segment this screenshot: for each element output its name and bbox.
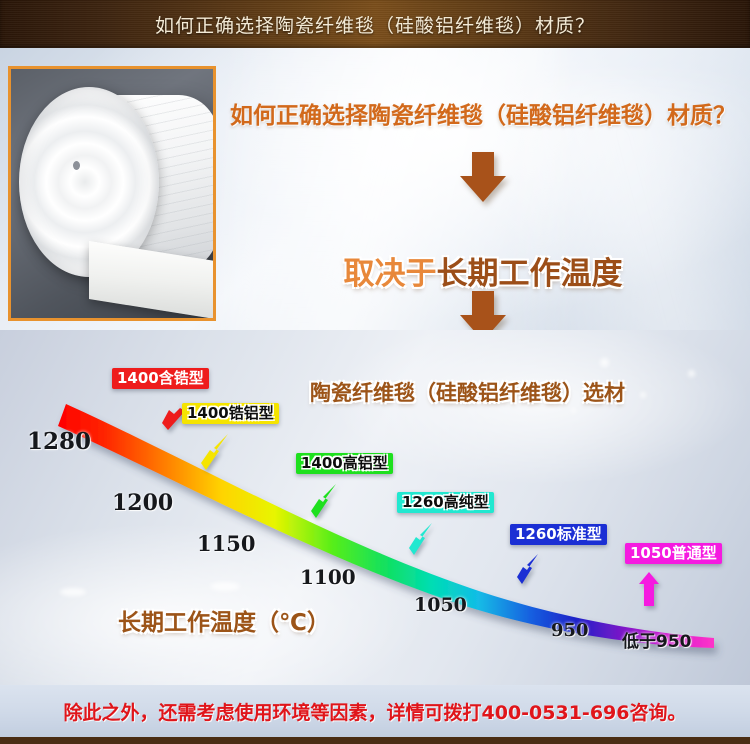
chart-title: 陶瓷纤维毯（硅酸铝纤维毯）选材 bbox=[310, 377, 625, 407]
callout-arrow-magenta bbox=[636, 570, 662, 610]
chart-axis-label: 长期工作温度（℃） bbox=[118, 603, 330, 637]
hero-banner: 如何正确选择陶瓷纤维毯（硅酸铝纤维毯）材质？ 取决于长期工作温度 bbox=[0, 48, 750, 330]
callout-1400-high-alumina: 1400高铝型 bbox=[296, 453, 393, 474]
header-title: 如何正确选择陶瓷纤维毯（硅酸铝纤维毯）材质？ bbox=[155, 11, 595, 38]
arrow-down-icon-bottom bbox=[460, 291, 506, 330]
decor-speck bbox=[600, 358, 609, 367]
hero-headline: 如何正确选择陶瓷纤维毯（硅酸铝纤维毯）材质？ bbox=[216, 96, 750, 130]
arrow-down-icon-top bbox=[460, 152, 506, 202]
callout-arrow-green bbox=[310, 482, 342, 524]
callout-1050-ordinary: 1050普通型 bbox=[625, 543, 722, 564]
callout-arrow-cyan bbox=[408, 521, 438, 561]
product-photo bbox=[8, 66, 216, 321]
hero-subheadline-emphasis: 长期工作温度 bbox=[437, 256, 623, 292]
callout-arrow-yellow bbox=[200, 432, 234, 476]
decor-speck bbox=[640, 392, 646, 398]
tick-label-1050: 1050 bbox=[414, 594, 467, 616]
callout-1400-zirconia-alumina: 1400锆铝型 bbox=[182, 403, 279, 424]
decor-speck bbox=[688, 370, 695, 377]
tick-label-950: 950 bbox=[551, 620, 589, 641]
tick-label-below-950: 低于950 bbox=[622, 627, 692, 652]
tick-label-1150: 1150 bbox=[197, 531, 255, 556]
arrow-head bbox=[460, 176, 506, 202]
decor-speck bbox=[571, 408, 576, 413]
promo-page: 如何正确选择陶瓷纤维毯（硅酸铝纤维毯）材质？ 如何正确选择陶瓷纤维毯（硅酸铝纤维… bbox=[0, 0, 750, 744]
blanket-roll-core bbox=[73, 161, 80, 170]
callout-1400-zirconium: 1400含锆型 bbox=[112, 368, 209, 389]
decor-speck bbox=[60, 588, 86, 596]
hero-subheadline-prefix: 取决于 bbox=[344, 256, 437, 292]
hero-subheadline: 取决于长期工作温度 bbox=[216, 248, 750, 293]
hero-text-block: 如何正确选择陶瓷纤维毯（硅酸铝纤维毯）材质？ 取决于长期工作温度 bbox=[216, 48, 750, 330]
callout-1260-standard: 1260标准型 bbox=[510, 524, 607, 545]
footer-rule bbox=[0, 737, 750, 744]
callout-arrow-blue bbox=[516, 552, 544, 590]
callout-1260-high-purity: 1260高纯型 bbox=[397, 492, 494, 513]
header-bar: 如何正确选择陶瓷纤维毯（硅酸铝纤维毯）材质？ bbox=[0, 0, 750, 48]
tick-label-1200: 1200 bbox=[112, 490, 173, 516]
tick-label-1100: 1100 bbox=[300, 565, 356, 589]
footer-band: 除此之外，还需考虑使用环境等因素，详情可拨打400-0531-696咨询。 bbox=[0, 685, 750, 737]
arrow-shaft bbox=[472, 152, 494, 176]
arrow-shaft bbox=[472, 291, 494, 315]
decor-speck bbox=[210, 582, 240, 591]
tick-label-1280: 1280 bbox=[27, 428, 91, 455]
footer-contact-text: 除此之外，还需考虑使用环境等因素，详情可拨打400-0531-696咨询。 bbox=[64, 698, 687, 725]
arrow-head bbox=[460, 315, 506, 330]
